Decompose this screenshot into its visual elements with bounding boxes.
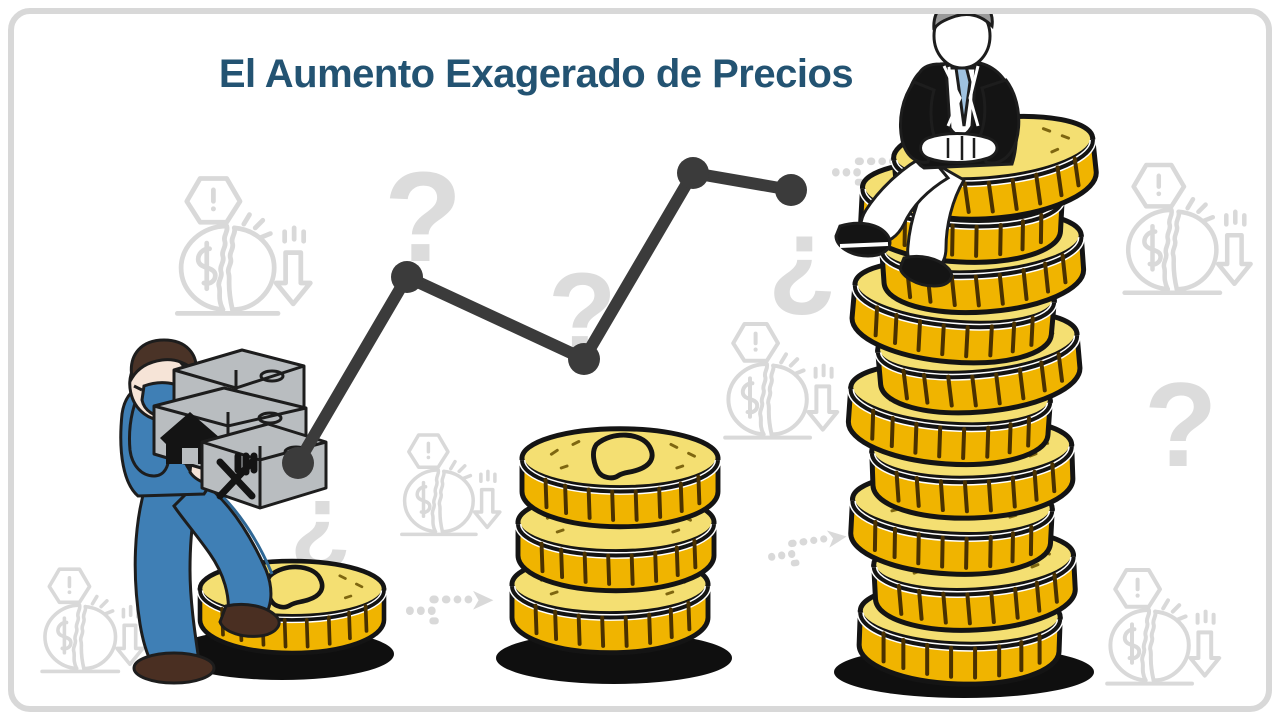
chart-point-1[interactable] — [282, 447, 314, 479]
chart-point-5[interactable] — [775, 174, 807, 206]
illustration-canvas: ? ? ? ¿ ¿ — [14, 14, 1266, 706]
chart-point-2[interactable] — [391, 261, 423, 293]
chart-line-series — [282, 157, 807, 479]
line-chart-layer — [14, 14, 1266, 706]
illustration-stage: ? ? ? ¿ ¿ — [0, 0, 1280, 720]
image-frame: ? ? ? ¿ ¿ — [8, 8, 1272, 712]
chart-point-3[interactable] — [568, 343, 600, 375]
chart-point-4[interactable] — [677, 157, 709, 189]
